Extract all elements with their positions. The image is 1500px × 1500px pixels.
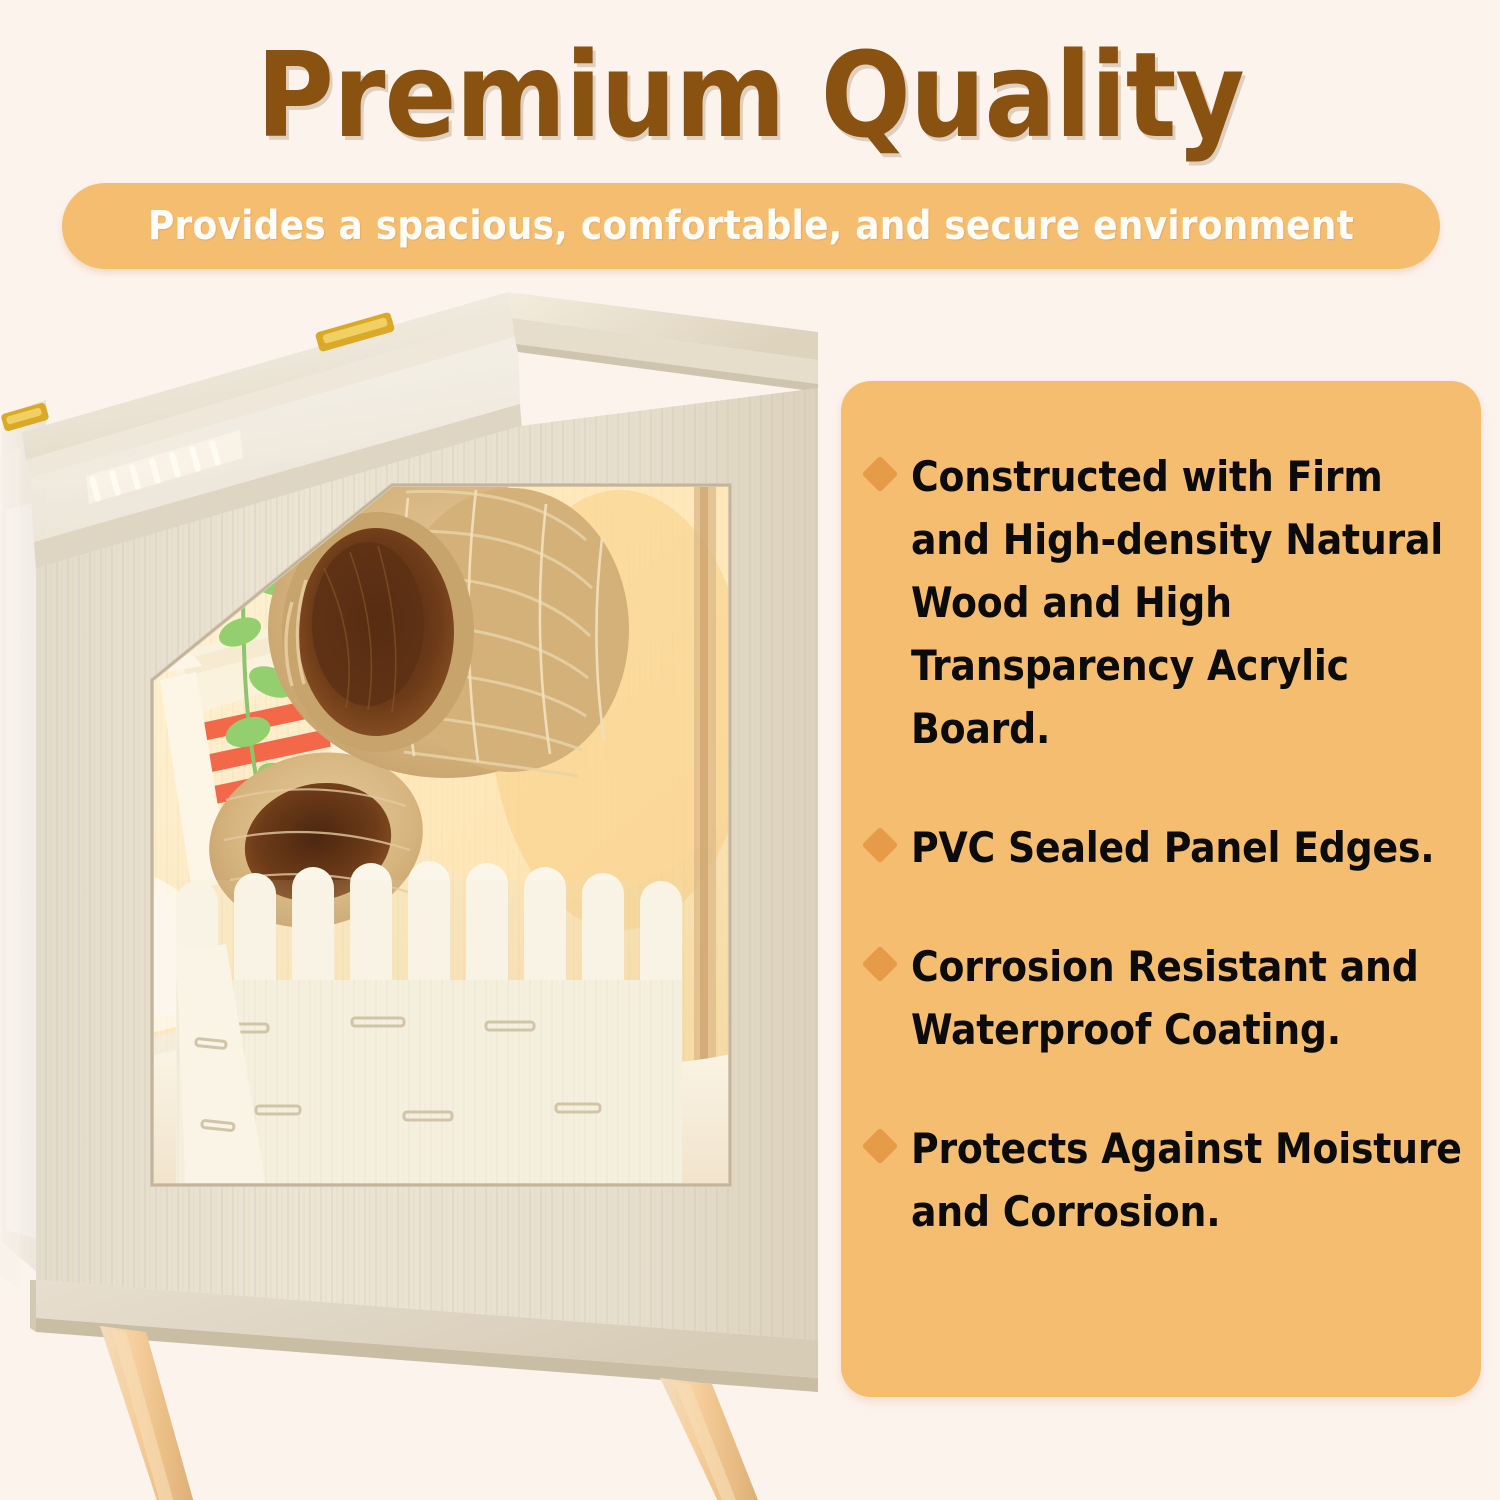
feature-text: Constructed with Firm and High-density N… — [911, 445, 1463, 760]
list-item: PVC Sealed Panel Edges. — [865, 816, 1471, 879]
subtitle-text: Provides a spacious, comfortable, and se… — [148, 203, 1354, 249]
diamond-bullet-icon — [862, 946, 899, 983]
list-item: Constructed with Firm and High-density N… — [865, 445, 1471, 760]
white-picket-fence — [176, 861, 682, 1202]
product-photo — [0, 280, 840, 1500]
diamond-bullet-icon — [862, 827, 899, 864]
diamond-bullet-icon — [862, 456, 899, 493]
diamond-bullet-icon — [862, 1128, 899, 1165]
feature-bullet-list: Constructed with Firm and High-density N… — [865, 445, 1471, 1243]
page-title: Premium Quality — [0, 34, 1500, 157]
lid-top-right — [508, 292, 818, 392]
list-item: Protects Against Moisture and Corrosion. — [865, 1117, 1471, 1243]
list-item: Corrosion Resistant and Waterproof Coati… — [865, 935, 1471, 1061]
feature-text: Protects Against Moisture and Corrosion. — [911, 1117, 1463, 1243]
subtitle-banner: Provides a spacious, comfortable, and se… — [62, 183, 1440, 269]
feature-panel: Constructed with Firm and High-density N… — [841, 381, 1481, 1397]
poster-canvas: Premium Quality Provides a spacious, com… — [0, 0, 1500, 1500]
feature-text: PVC Sealed Panel Edges. — [911, 816, 1434, 879]
feature-text: Corrosion Resistant and Waterproof Coati… — [911, 935, 1463, 1061]
